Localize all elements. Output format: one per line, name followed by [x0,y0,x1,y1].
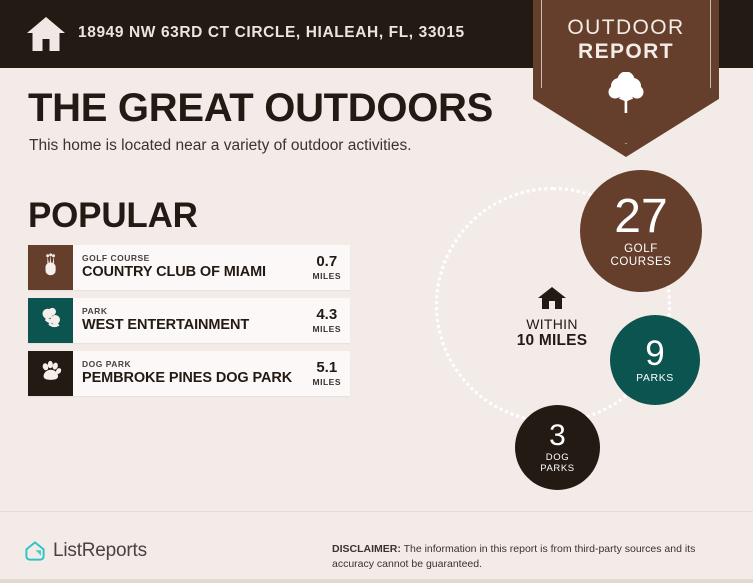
item-distance-unit: MILES [313,271,341,281]
disclaimer-label: DISCLAIMER: [332,543,401,555]
tree-icon [606,72,646,114]
item-name: WEST ENTERTAINMENT [82,317,309,334]
badge-line-1: OUTDOOR [533,16,719,40]
item-distance-value: 4.3 [316,307,337,324]
center-line-2: 10 MILES [506,332,598,351]
item-category: PARK [82,307,309,317]
item-category: GOLF COURSE [82,254,309,264]
home-icon [25,14,67,54]
trees-icon [39,307,63,334]
item-distance: 0.7 MILES [309,245,350,290]
list-item[interactable]: DOG PARK PEMBROKE PINES DOG PARK 5.1 MIL… [28,351,350,396]
popular-list: GOLF COURSE COUNTRY CLUB OF MIAMI 0.7 MI… [28,245,350,404]
outdoor-report-infographic: 18949 NW 63RD CT CIRCLE, HIALEAH, FL, 33… [0,0,753,583]
center-line-1: WITHIN [506,316,598,332]
item-text: GOLF COURSE COUNTRY CLUB OF MIAMI [73,245,309,290]
badge-line-2: REPORT [533,40,719,64]
item-text: PARK WEST ENTERTAINMENT [73,298,309,343]
item-name: COUNTRY CLUB OF MIAMI [82,264,309,281]
within-10-miles-diagram: WITHIN 10 MILES 27 GOLF COURSES 9 PARKS … [410,165,740,500]
disclaimer: DISCLAIMER: The information in this repo… [332,542,732,572]
stat-label-line-1: GOLF [624,243,658,255]
bottom-divider [0,579,753,583]
outdoor-report-badge: OUTDOOR REPORT [533,0,719,157]
stat-label: DOG PARKS [540,453,575,474]
property-address: 18949 NW 63RD CT CIRCLE, HIALEAH, FL, 33… [78,24,465,42]
stat-count: 9 [645,336,664,371]
stat-label-line-2: COURSES [610,256,671,268]
stat-label: GOLF COURSES [610,243,671,269]
list-item[interactable]: GOLF COURSE COUNTRY CLUB OF MIAMI 0.7 MI… [28,245,350,290]
item-icon-tile [28,351,73,396]
paw-print-icon [39,360,63,387]
listreports-house-icon [24,540,46,562]
stat-label-line-1: DOG [546,452,569,463]
page-title: THE GREAT OUTDOORS [28,86,493,131]
stat-circle-parks[interactable]: 9 PARKS [610,315,700,405]
item-distance-unit: MILES [313,377,341,387]
page-subtitle: This home is located near a variety of o… [29,137,412,155]
diagram-center-label: WITHIN 10 MILES [506,285,598,351]
footer: ListReports DISCLAIMER: The information … [0,511,753,583]
stat-count: 27 [614,193,667,241]
item-distance-unit: MILES [313,324,341,334]
popular-heading: POPULAR [28,196,198,236]
home-icon [537,285,567,311]
item-category: DOG PARK [82,360,309,370]
stat-circle-golf-courses[interactable]: 27 GOLF COURSES [580,170,702,292]
item-text: DOG PARK PEMBROKE PINES DOG PARK [73,351,309,396]
stat-count: 3 [549,421,566,451]
stat-circle-dog-parks[interactable]: 3 DOG PARKS [515,405,600,490]
listreports-logo[interactable]: ListReports [24,540,147,562]
list-item[interactable]: PARK WEST ENTERTAINMENT 4.3 MILES [28,298,350,343]
listreports-wordmark: ListReports [53,540,147,562]
item-distance: 4.3 MILES [309,298,350,343]
stat-label-line-2: PARKS [540,463,575,474]
item-icon-tile [28,245,73,290]
item-distance-value: 0.7 [316,254,337,271]
golf-bag-icon [40,253,62,282]
item-distance: 5.1 MILES [309,351,350,396]
item-icon-tile [28,298,73,343]
item-distance-value: 5.1 [316,360,337,377]
item-name: PEMBROKE PINES DOG PARK [82,370,309,387]
stat-label: PARKS [636,373,674,385]
